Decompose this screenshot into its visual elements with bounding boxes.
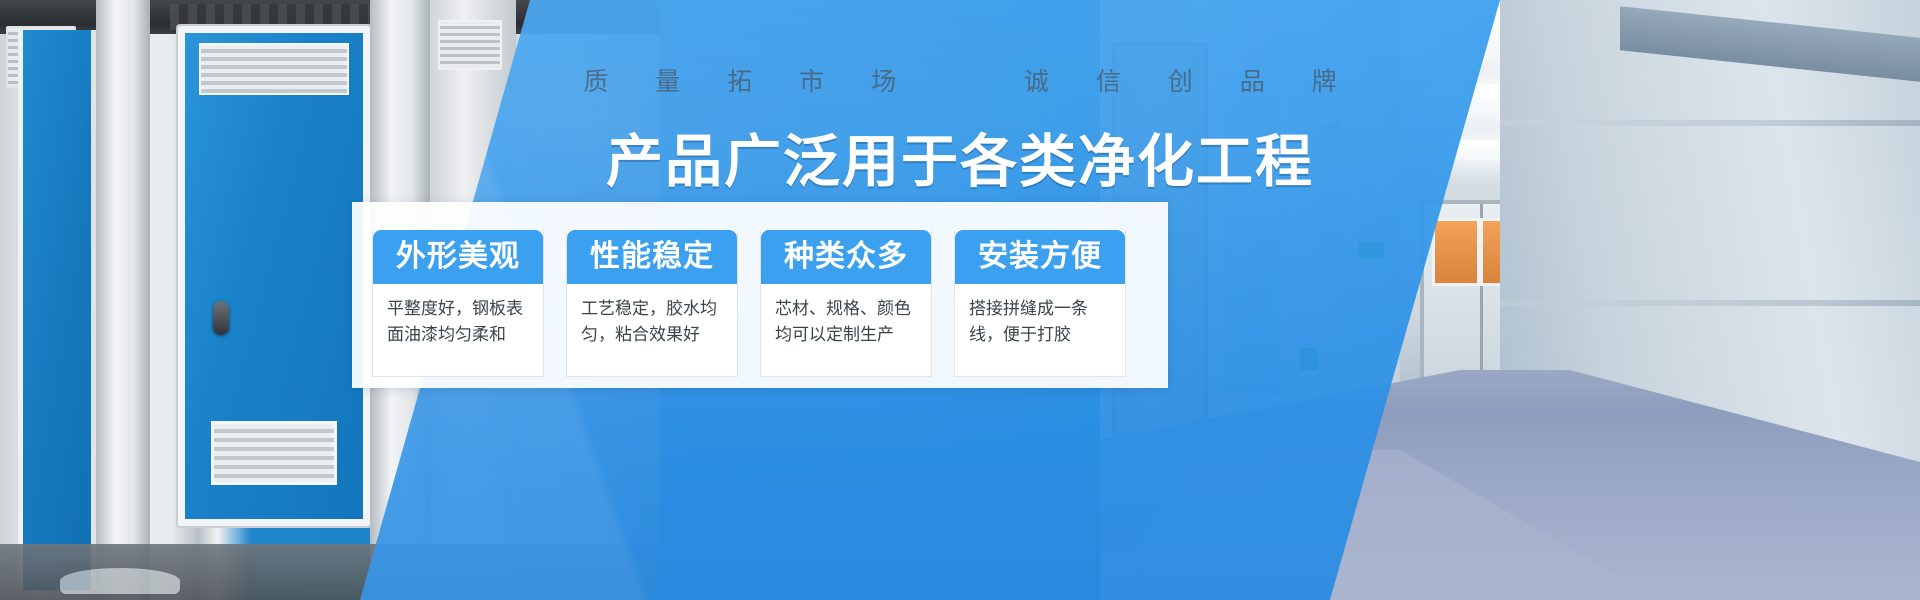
- feature-card-body: 工艺稳定，胶水均匀，粘合效果好: [567, 284, 737, 376]
- feature-card[interactable]: 外形美观 平整度好，钢板表面油漆均匀柔和: [372, 230, 544, 377]
- feature-card[interactable]: 种类众多 芯材、规格、颜色均可以定制生产: [760, 230, 932, 377]
- feature-card-body: 平整度好，钢板表面油漆均匀柔和: [373, 284, 543, 376]
- feature-card-title: 外形美观: [373, 230, 543, 284]
- feature-panel: 外形美观 平整度好，钢板表面油漆均匀柔和 性能稳定 工艺稳定，胶水均匀，粘合效果…: [352, 202, 1168, 388]
- feature-card-title: 种类众多: [761, 230, 931, 284]
- wall-rail-lower: [1500, 300, 1920, 306]
- feature-card-body: 芯材、规格、颜色均可以定制生产: [761, 284, 931, 376]
- hero-text-block: 质 量 拓 市 场 诚 信 创 品 牌 产品广泛用于各类净化工程: [0, 62, 1920, 198]
- cabin-door-handle: [213, 301, 229, 335]
- door-split-line: [1480, 204, 1483, 386]
- feature-card[interactable]: 性能稳定 工艺稳定，胶水均匀，粘合效果好: [566, 230, 738, 377]
- feature-card-title: 性能稳定: [567, 230, 737, 284]
- feature-card-body: 搭接拼缝成一条线，便于打胶: [955, 284, 1125, 376]
- feature-card-title: 安装方便: [955, 230, 1125, 284]
- feature-card-list: 外形美观 平整度好，钢板表面油漆均匀柔和 性能稳定 工艺稳定，胶水均匀，粘合效果…: [372, 230, 1126, 377]
- hero-subtitle: 质 量 拓 市 场 诚 信 创 品 牌: [0, 62, 1920, 98]
- promo-banner: 洁净区 质 量 拓 市 场 诚 信 创 品 牌 产品广泛用于各类净化工程: [0, 0, 1920, 600]
- cabin-door-bottom-vent: [211, 421, 337, 485]
- feature-card[interactable]: 安装方便 搭接拼缝成一条线，便于打胶: [954, 230, 1126, 377]
- hero-title: 产品广泛用于各类净化工程: [0, 116, 1920, 198]
